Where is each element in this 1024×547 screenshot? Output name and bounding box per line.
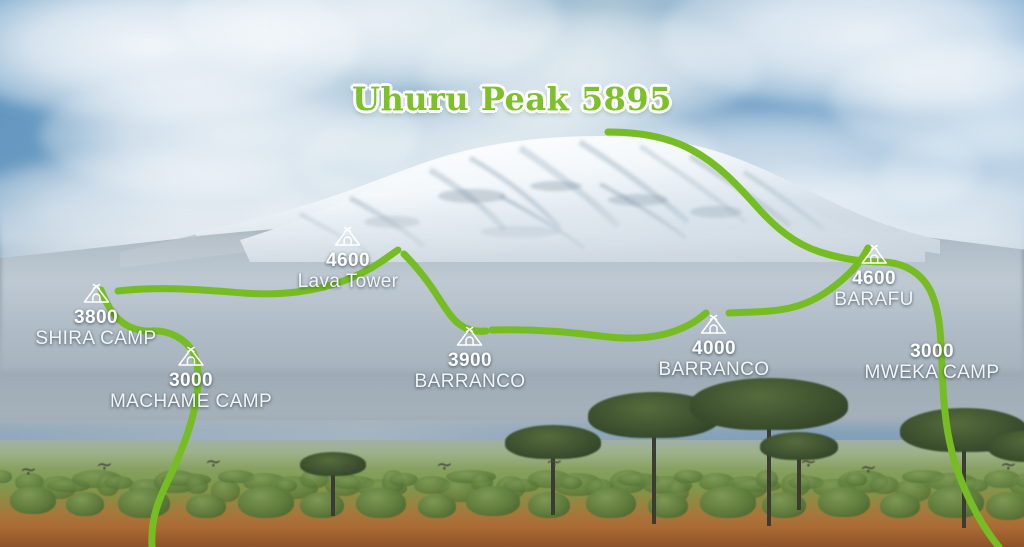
tent-icon bbox=[699, 313, 729, 337]
camp-name: BARAFU bbox=[834, 289, 913, 310]
camp-marker-karanga-barranco[interactable]: 4000BARRANCO bbox=[659, 313, 770, 381]
camp-marker-shira[interactable]: 3800SHIRA CAMP bbox=[35, 282, 156, 350]
tent-icon bbox=[176, 345, 206, 369]
camp-marker-barranco[interactable]: 3900BARRANCO bbox=[415, 325, 526, 393]
camp-name: BARRANCO bbox=[659, 359, 770, 380]
camp-marker-lava-tower[interactable]: 4600Lava Tower bbox=[298, 225, 399, 293]
camp-name: MACHAME CAMP bbox=[110, 391, 272, 412]
camp-marker-machame[interactable]: 3000MACHAME CAMP bbox=[110, 345, 272, 413]
camp-altitude: 4600 bbox=[298, 250, 399, 271]
camp-altitude: 4600 bbox=[834, 268, 913, 289]
camp-marker-mweka[interactable]: 3000MWEKA CAMP bbox=[865, 341, 1000, 384]
tent-icon bbox=[333, 225, 363, 249]
camp-name: BARRANCO bbox=[415, 371, 526, 392]
camp-altitude: 3000 bbox=[110, 370, 272, 391]
tent-icon bbox=[859, 243, 889, 267]
tent-icon bbox=[455, 325, 485, 349]
camp-altitude: 3900 bbox=[415, 350, 526, 371]
camp-name: Lava Tower bbox=[298, 271, 399, 292]
camp-name: MWEKA CAMP bbox=[865, 362, 1000, 383]
kilimanjaro-route-map: ⸟⸟⸟⸟⸟⸟⸟⸟⸟ Uhuru Peak 5895 3800SHIRA CAMP… bbox=[0, 0, 1024, 547]
tent-icon bbox=[81, 282, 111, 306]
camp-label-layer: 3800SHIRA CAMP3000MACHAME CAMP4600Lava T… bbox=[0, 0, 1024, 547]
camp-altitude: 3000 bbox=[865, 341, 1000, 362]
camp-altitude: 3800 bbox=[35, 307, 156, 328]
camp-altitude: 4000 bbox=[659, 338, 770, 359]
camp-marker-barafu[interactable]: 4600BARAFU bbox=[834, 243, 913, 311]
